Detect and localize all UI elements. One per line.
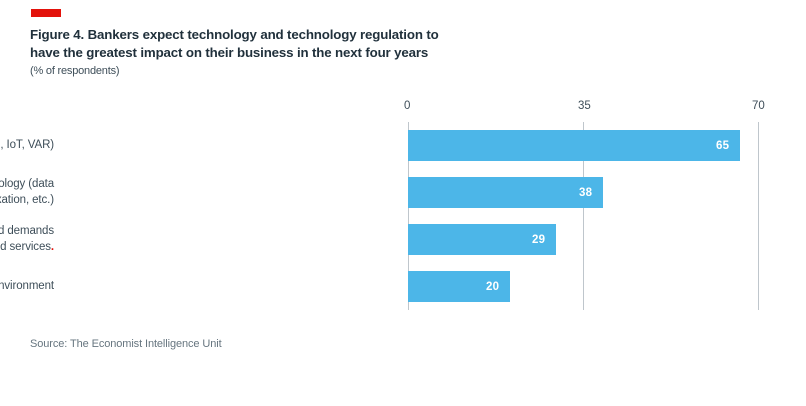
- bar-value-label: 20: [486, 281, 499, 293]
- plot-area: 65 New technologies (cloud, AI, APIs, bl…: [408, 122, 758, 310]
- category-label-line: Chaning political, socioeconomic, or pub…: [0, 279, 54, 295]
- figure-title-line-2: have the greatest impact on their busine…: [30, 44, 460, 62]
- category-label-line: Regulation on digital technology (data: [0, 177, 54, 193]
- bar-value-label: 29: [532, 234, 545, 246]
- accent-rule: [31, 9, 61, 17]
- figure-title-line-1: Figure 4. Bankers expect technology and …: [30, 26, 460, 44]
- red-period-annotation: .: [51, 241, 54, 253]
- bar-value-label: 65: [716, 140, 729, 152]
- x-tick-35: 35: [578, 100, 591, 112]
- figure-container: Figure 4. Bankers expect technology and …: [0, 0, 806, 406]
- category-label-new-technologies: New technologies (cloud, AI, APIs, block…: [0, 138, 54, 154]
- category-label-line: Changing customer behaviour and demands: [0, 224, 54, 240]
- category-label-line: protection, digital taxation, etc.): [0, 193, 54, 209]
- category-label-text: around digital banking products and serv…: [0, 241, 51, 253]
- gridline-70: [758, 122, 759, 310]
- bar-value-label: 38: [579, 187, 592, 199]
- category-label-line: New technologies (cloud, AI, APIs, block…: [0, 138, 54, 154]
- source-note: Source: The Economist Intelligence Unit: [30, 338, 222, 350]
- x-tick-0: 0: [404, 100, 410, 112]
- category-label-changing-customer-behaviour: Changing customer behaviour and demands …: [0, 224, 54, 255]
- bar-new-technologies[interactable]: [408, 130, 740, 161]
- figure-title: Figure 4. Bankers expect technology and …: [30, 26, 460, 61]
- category-label-line: around digital banking products and serv…: [0, 240, 54, 256]
- category-label-changing-political-environment: Chaning political, socioeconomic, or pub…: [0, 279, 54, 295]
- figure-subtitle: (% of respondents): [30, 64, 119, 78]
- category-label-regulation-digital-technology: Regulation on digital technology (data p…: [0, 177, 54, 208]
- bar-regulation-digital-technology[interactable]: [408, 177, 603, 208]
- x-tick-70: 70: [752, 100, 765, 112]
